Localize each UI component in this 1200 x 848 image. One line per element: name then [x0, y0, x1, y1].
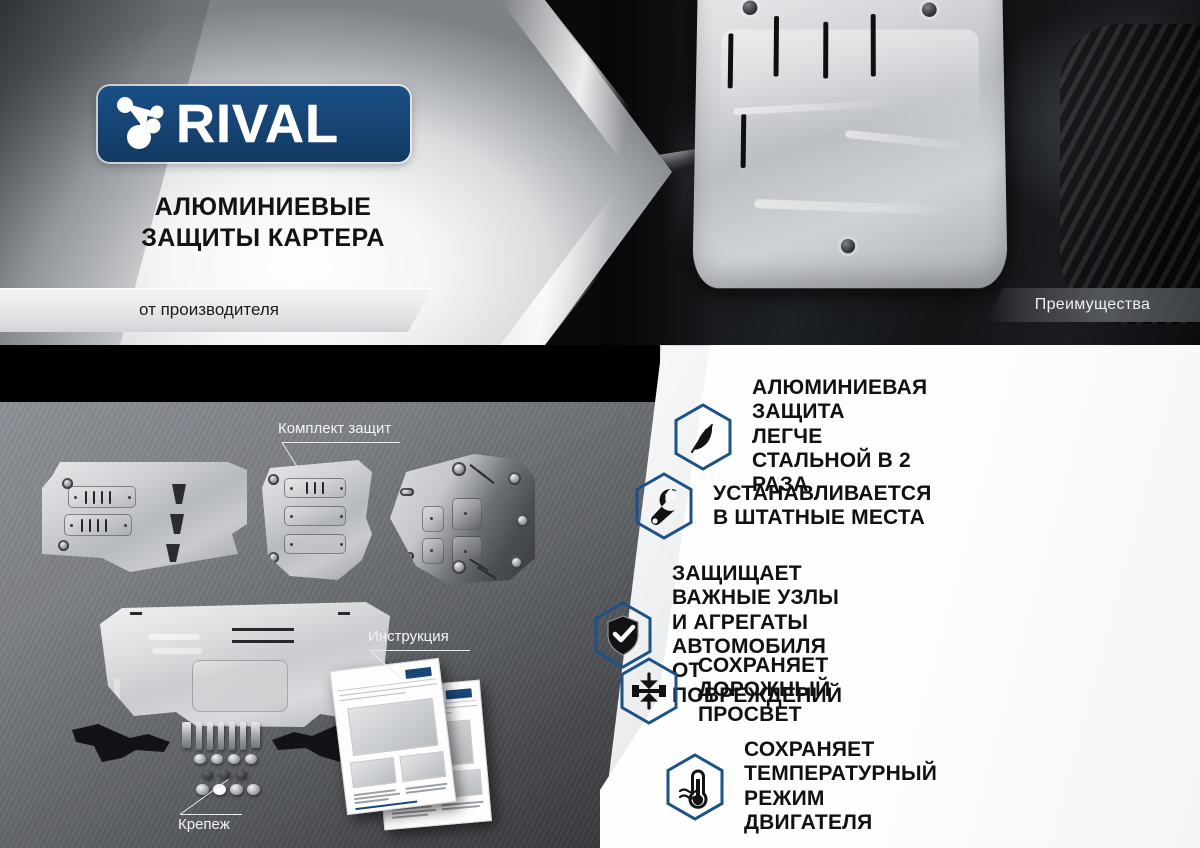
feature-label-clearance: СОХРАНЯЕТ ДОРОЖНЫЙ ПРОСВЕТ	[698, 654, 830, 727]
advantages-tab-label: Преимущества	[1035, 296, 1150, 314]
wrench-icon	[633, 472, 695, 540]
feature-label-oem-fit: УСТАНАВЛИВАЕТСЯ В ШТАТНЫЕ МЕСТА	[713, 482, 932, 531]
promo-banner: Преимущества RIVAL АЛЮМИНИЕВЫЕ ЗАЩИТЫ КА…	[0, 0, 1200, 848]
thermometer-icon	[664, 753, 726, 821]
advantages-tab[interactable]: Преимущества	[985, 288, 1200, 322]
hero-tire	[1060, 24, 1200, 324]
leaf-icon	[672, 403, 734, 471]
feature-item-temperature[interactable]: СОХРАНЯЕТ ТЕМПЕРАТУРНЫЙ РЕЖИМ ДВИГАТЕЛЯ	[664, 738, 937, 835]
hero-skid-plate	[692, 0, 1008, 288]
feature-label-temperature: СОХРАНЯЕТ ТЕМПЕРАТУРНЫЙ РЕЖИМ ДВИГАТЕЛЯ	[744, 738, 937, 835]
features-list: АЛЮМИНИЕВАЯ ЗАЩИТА ЛЕГЧЕ СТАЛЬНОЙ В 2 РА…	[0, 0, 600, 848]
ground-clearance-icon	[618, 657, 680, 725]
feature-item-clearance[interactable]: СОХРАНЯЕТ ДОРОЖНЫЙ ПРОСВЕТ	[618, 654, 830, 727]
feature-item-oem-fit[interactable]: УСТАНАВЛИВАЕТСЯ В ШТАТНЫЕ МЕСТА	[633, 472, 932, 540]
